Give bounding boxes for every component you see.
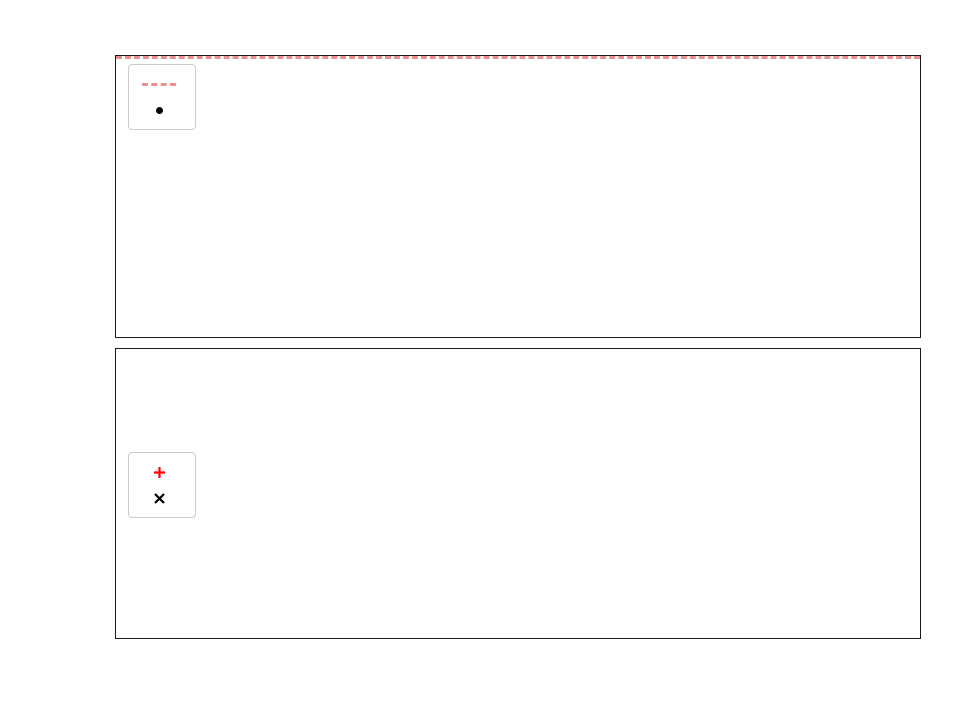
top-panel-axes bbox=[115, 55, 921, 338]
bottom-panel-axes bbox=[115, 348, 921, 639]
threshold-dash-icon bbox=[137, 83, 181, 86]
cross-marker-icon bbox=[137, 492, 181, 505]
legend-item-matched-stars[interactable] bbox=[137, 459, 185, 485]
threshold-line bbox=[116, 56, 920, 59]
legend-item-predicted-stars[interactable] bbox=[137, 485, 185, 511]
figure-canvas bbox=[0, 0, 960, 720]
top-panel-legend bbox=[128, 64, 196, 130]
legend-item-threshold[interactable] bbox=[137, 71, 185, 97]
measurement-dot-icon bbox=[137, 107, 181, 114]
bottom-panel-legend bbox=[128, 452, 196, 518]
legend-item-measurements[interactable] bbox=[137, 97, 185, 123]
plus-marker-icon bbox=[137, 466, 181, 479]
